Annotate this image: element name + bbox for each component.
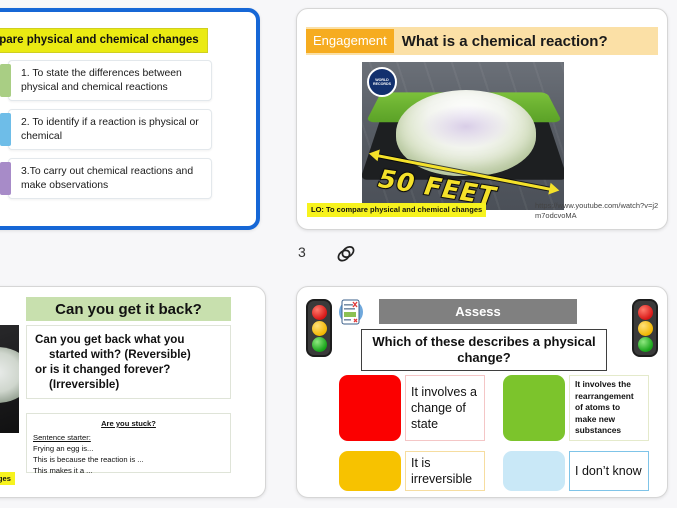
sentence-starter-label: Sentence starter: — [33, 432, 224, 443]
engagement-video-url: https://www.youtube.com/watch?v=j2m7odcv… — [535, 201, 663, 221]
objective-text: 1. To state the differences between phys… — [21, 68, 182, 93]
assess-option-1[interactable]: It involves a change of state — [339, 375, 485, 441]
guinness-world-records-icon: WORLD RECORDS — [367, 67, 397, 97]
are-you-stuck-box: Are you stuck? Sentence starter: Frying … — [26, 413, 231, 473]
objective-color-swatch — [0, 162, 11, 195]
assess-option-2[interactable]: It involves the rearrangement of atoms t… — [503, 375, 649, 441]
frying-pan-photo — [0, 325, 19, 433]
photo-pan — [0, 347, 19, 403]
traffic-light-icon-left — [306, 299, 332, 357]
get-it-back-header: Can you get it back? — [26, 297, 231, 321]
objective-text: 2. To identify if a reaction is physical… — [21, 117, 199, 142]
badge-text: WORLD RECORDS — [369, 78, 395, 87]
slide-number-label: 3 — [298, 244, 306, 260]
assess-options-grid: It involves a change of state It involve… — [339, 375, 649, 487]
get-it-back-question: Can you get back what you started with? … — [26, 325, 231, 399]
assess-question: Which of these describes a physical chan… — [361, 329, 607, 371]
question-line-2: or is it changed forever? (Irreversible) — [35, 362, 222, 392]
objective-item-2[interactable]: 2. To identify if a reaction is physical… — [8, 109, 212, 150]
engagement-lo-chip: LO: To compare physical and chemical cha… — [307, 203, 486, 217]
engagement-tag: Engagement — [306, 29, 394, 53]
option-color-swatch-green[interactable] — [503, 375, 565, 441]
option-label: It involves a change of state — [405, 375, 485, 441]
objective-text: 3.To carry out chemical reactions and ma… — [21, 166, 193, 191]
traffic-lamp-green — [312, 337, 327, 352]
starter-line-2: This is because the reaction is ... — [33, 454, 224, 465]
starter-line-1: Frying an egg is... — [33, 443, 224, 454]
engagement-photo: 50 FEET WORLD RECORDS — [362, 62, 564, 210]
option-color-swatch-blue[interactable] — [503, 451, 565, 491]
traffic-lamp-amber — [312, 321, 327, 336]
traffic-lamp-red — [638, 305, 653, 320]
slide-thumbnail-assess[interactable]: Assess Which of these describes a physic… — [296, 286, 668, 498]
stuck-title: Are you stuck? — [33, 418, 224, 429]
objective-item-3[interactable]: 3.To carry out chemical reactions and ma… — [8, 158, 212, 199]
lo-chip: nd chemical changes — [0, 472, 15, 485]
option-color-swatch-yellow[interactable] — [339, 451, 401, 491]
starter-line-3: This makes it a ... — [33, 465, 224, 476]
link-chain-icon[interactable] — [333, 243, 359, 265]
lo-banner: ompare physical and chemical changes — [0, 28, 208, 53]
option-label: It is irreversible — [405, 451, 485, 491]
slide-sorter-canvas: ompare physical and chemical changes 1. … — [0, 0, 677, 508]
traffic-lamp-red — [312, 305, 327, 320]
assess-header: Assess — [379, 299, 577, 324]
slide-thumbnail-objectives[interactable]: ompare physical and chemical changes 1. … — [0, 8, 260, 230]
slide-thumbnail-get-it-back[interactable]: Can you get it back? Can you get back wh… — [0, 286, 266, 498]
assess-option-3[interactable]: It is irreversible — [339, 451, 485, 491]
slide-thumbnail-engagement[interactable]: Engagement What is a chemical reaction? … — [296, 8, 668, 230]
question-line-1: Can you get back what you started with? … — [35, 332, 222, 362]
engagement-header: Engagement What is a chemical reaction? — [306, 27, 658, 55]
objectives-list: 1. To state the differences between phys… — [8, 60, 212, 207]
option-label: It involves the rearrangement of atoms t… — [569, 375, 649, 441]
traffic-lamp-green — [638, 337, 653, 352]
assess-option-4[interactable]: I don’t know — [503, 451, 649, 491]
traffic-lamp-amber — [638, 321, 653, 336]
objective-item-1[interactable]: 1. To state the differences between phys… — [8, 60, 212, 101]
option-label: I don’t know — [569, 451, 649, 491]
engagement-title: What is a chemical reaction? — [402, 33, 608, 50]
notepad-checklist-icon — [338, 297, 364, 327]
option-color-swatch-red[interactable] — [339, 375, 401, 441]
objective-color-swatch — [0, 64, 11, 97]
traffic-light-icon-right — [632, 299, 658, 357]
objective-color-swatch — [0, 113, 11, 146]
